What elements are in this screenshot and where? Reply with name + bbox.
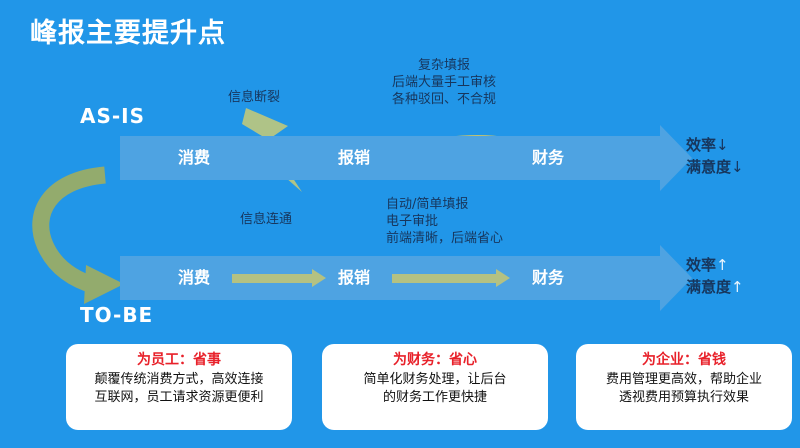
arrow-up-icon: ↑ [716,256,729,274]
annotation-tobe-benefits: 自动/简单填报 电子审批 前端清晰，后端省心 [386,196,503,247]
arrow-down-icon: ↓ [716,136,729,154]
callout-card-finance: 为财务：省心 简单化财务处理，让后台 的财务工作更快捷 [322,344,548,430]
curved-transition-arrow-icon [41,175,124,304]
outcome-tobe-efficiency-label: 效率 [686,256,716,274]
outcome-asis-efficiency: 效率↓ [686,134,744,156]
annotation-information-break: 信息断裂 [228,89,280,106]
outcome-tobe: 效率↑ 满意度↑ [686,254,744,298]
outcome-asis-efficiency-label: 效率 [686,136,716,154]
callout-title: 为企业：省钱 [584,350,784,370]
asis-issue-line-3: 各种驳回、不合规 [392,91,496,108]
outcome-asis-satisfaction: 满意度↓ [686,156,744,178]
asis-issue-line-1: 复杂填报 [392,57,496,74]
asis-stage-reimburse: 报销 [338,136,370,180]
callout-title: 为财务：省心 [330,350,540,370]
tobe-stage-reimburse: 报销 [338,256,370,300]
callout-body-line-1: 费用管理更高效，帮助企业 [584,371,784,389]
row-label-asis: AS-IS [80,104,145,128]
annotation-asis-issues: 复杂填报 后端大量手工审核 各种驳回、不合规 [392,57,496,108]
tobe-benefit-line-2: 电子审批 [386,213,503,230]
callout-body-line-1: 颠覆传统消费方式，高效连接 [74,371,284,389]
tobe-benefit-line-3: 前端清晰，后端省心 [386,230,503,247]
slide-canvas: 峰报主要提升点 AS-IS 消费 报销 财务 信息断裂 复杂填报 后端大量手工审… [0,0,800,448]
tobe-arrow-reimburse-to-finance [392,273,512,283]
annotation-information-linked: 信息连通 [240,211,292,228]
outcome-tobe-satisfaction: 满意度↑ [686,276,744,298]
callout-body: 简单化财务处理，让后台 的财务工作更快捷 [330,371,540,407]
callout-body: 费用管理更高效，帮助企业 透视费用预算执行效果 [584,371,784,407]
tobe-benefit-line-1: 自动/简单填报 [386,196,503,213]
tobe-stage-finance: 财务 [532,256,564,300]
outcome-tobe-satisfaction-label: 满意度 [686,278,731,296]
callout-title: 为员工：省事 [74,350,284,370]
arrow-down-icon: ↓ [731,158,744,176]
asis-stage-finance: 财务 [532,136,564,180]
page-title: 峰报主要提升点 [30,11,226,50]
process-band-asis: 消费 报销 财务 [120,136,660,180]
callout-card-enterprise: 为企业：省钱 费用管理更高效，帮助企业 透视费用预算执行效果 [576,344,792,430]
tobe-arrow-consume-to-reimburse [232,273,328,283]
outcome-tobe-efficiency: 效率↑ [686,254,744,276]
asis-stage-consume: 消费 [178,136,210,180]
tobe-stage-consume: 消费 [178,256,210,300]
process-band-tobe: 消费 报销 财务 [120,256,660,300]
outcome-asis: 效率↓ 满意度↓ [686,134,744,178]
row-label-tobe: TO-BE [80,303,153,327]
callout-body-line-2: 互联网，员工请求资源更便利 [74,389,284,407]
callout-card-employee: 为员工：省事 颠覆传统消费方式，高效连接 互联网，员工请求资源更便利 [66,344,292,430]
callout-body-line-2: 的财务工作更快捷 [330,389,540,407]
callout-body-line-2: 透视费用预算执行效果 [584,389,784,407]
callout-body: 颠覆传统消费方式，高效连接 互联网，员工请求资源更便利 [74,371,284,407]
arrow-up-icon: ↑ [731,278,744,296]
callout-body-line-1: 简单化财务处理，让后台 [330,371,540,389]
asis-issue-line-2: 后端大量手工审核 [392,74,496,91]
outcome-asis-satisfaction-label: 满意度 [686,158,731,176]
